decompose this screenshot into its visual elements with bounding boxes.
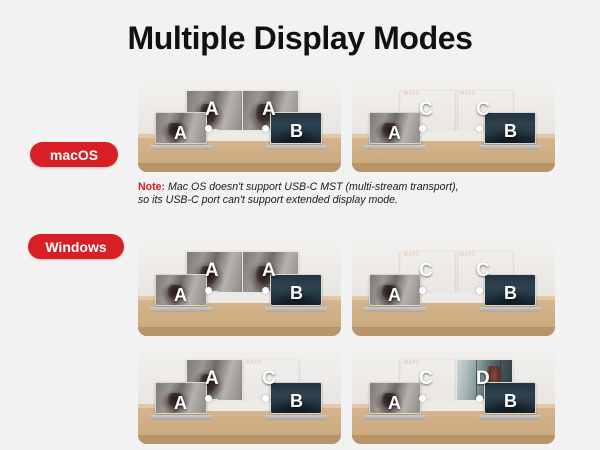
laptop-left-base xyxy=(150,145,212,150)
connector-dot-left xyxy=(205,395,212,402)
maps-watermark: MAPS xyxy=(246,360,262,366)
laptop-right-base xyxy=(479,307,541,312)
label-laptop-right: B xyxy=(504,284,517,302)
label-laptop-right: B xyxy=(290,284,303,302)
label-monitor-right: D xyxy=(476,369,490,388)
laptop-left-base xyxy=(364,415,426,420)
label-laptop-left: A xyxy=(388,394,401,412)
connector-dot-left xyxy=(205,287,212,294)
note-prefix: Note: xyxy=(138,181,165,193)
connector-dot-left xyxy=(419,287,426,294)
note-line-1: Mac OS doesn't support USB-C MST (multi-… xyxy=(168,181,459,193)
laptop-right-base xyxy=(265,145,327,150)
label-monitor-left: C xyxy=(419,261,433,280)
laptop-right-base xyxy=(479,145,541,150)
panel-macos-mirror: A A A B xyxy=(138,76,341,172)
laptop-left-base xyxy=(150,307,212,312)
label-monitor-right: C xyxy=(476,261,490,280)
label-laptop-right: B xyxy=(504,392,517,410)
note-text: Note: Mac OS doesn't support USB-C MST (… xyxy=(138,181,558,208)
os-badge-windows-label: Windows xyxy=(45,239,106,255)
connector-dot-right xyxy=(262,287,269,294)
label-monitor-left: C xyxy=(419,369,433,388)
maps-watermark: MAPS xyxy=(460,91,476,97)
panel-windows-extend-three: MAPS A C A B xyxy=(138,344,341,444)
label-laptop-right: B xyxy=(504,122,517,140)
panel-macos-duplicate-maps: MAPS MAPS C C A B xyxy=(352,76,555,172)
label-monitor-left: A xyxy=(205,369,219,388)
maps-watermark: MAPS xyxy=(404,360,420,366)
panel-windows-mirror: A A A B xyxy=(138,236,341,336)
label-laptop-left: A xyxy=(388,124,401,142)
note-line-2: so its USB-C port can't support extended… xyxy=(138,194,398,206)
maps-watermark: MAPS xyxy=(404,252,420,258)
label-laptop-right: B xyxy=(290,392,303,410)
label-monitor-right: C xyxy=(476,100,490,119)
label-laptop-left: A xyxy=(174,394,187,412)
connector-dot-left xyxy=(419,125,426,132)
connector-dot-right xyxy=(476,287,483,294)
panel-windows-extend-four: MAPS C D A B xyxy=(352,344,555,444)
panel-windows-duplicate-maps: MAPS MAPS C C A B xyxy=(352,236,555,336)
label-monitor-left: C xyxy=(419,100,433,119)
maps-watermark: MAPS xyxy=(404,91,420,97)
os-badge-macos: macOS xyxy=(30,142,118,167)
label-monitor-right: C xyxy=(262,369,276,388)
connector-dot-left xyxy=(205,125,212,132)
infographic-root: Multiple Display Modes macOS A A A B xyxy=(0,0,600,450)
label-laptop-left: A xyxy=(174,124,187,142)
label-laptop-right: B xyxy=(290,122,303,140)
label-monitor-left: A xyxy=(205,261,219,280)
laptop-right-base xyxy=(479,415,541,420)
maps-watermark: MAPS xyxy=(460,252,476,258)
label-monitor-left: A xyxy=(205,100,219,119)
laptop-left-base xyxy=(364,307,426,312)
laptop-left-base xyxy=(364,145,426,150)
os-badge-macos-label: macOS xyxy=(50,147,98,163)
laptop-right-base xyxy=(265,415,327,420)
connector-dot-left xyxy=(419,395,426,402)
os-badge-windows: Windows xyxy=(28,234,124,259)
connector-dot-right xyxy=(476,125,483,132)
label-monitor-right: A xyxy=(262,261,276,280)
label-laptop-left: A xyxy=(174,286,187,304)
label-laptop-left: A xyxy=(388,286,401,304)
laptop-left-base xyxy=(150,415,212,420)
label-monitor-right: A xyxy=(262,100,276,119)
connector-dot-right xyxy=(476,395,483,402)
page-title: Multiple Display Modes xyxy=(0,20,600,57)
connector-dot-right xyxy=(262,395,269,402)
connector-dot-right xyxy=(262,125,269,132)
laptop-right-base xyxy=(265,307,327,312)
